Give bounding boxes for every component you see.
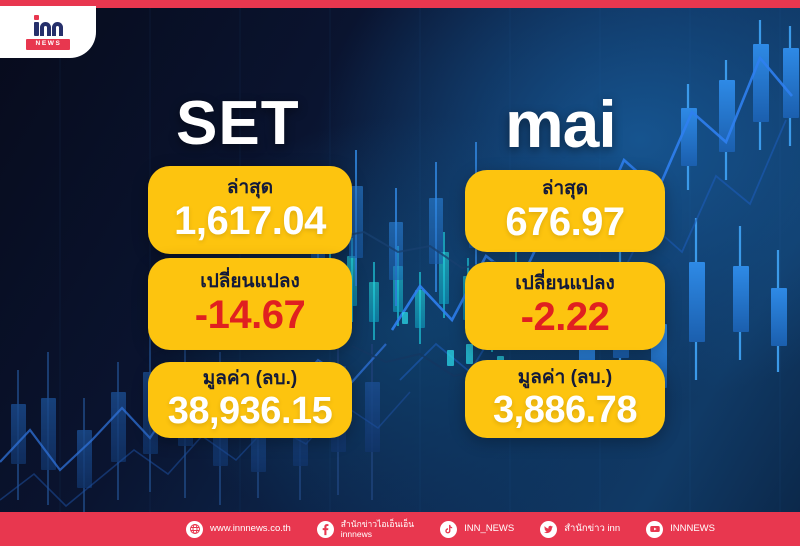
mai-latest-value: 676.97: [505, 201, 624, 243]
footer-facebook-label: สำนักข่าวไอเอ็นเอ็น innnews: [341, 519, 414, 539]
mai-change-card: เปลี่ยนแปลง -2.22: [465, 262, 665, 350]
set-turnover-value: 38,936.15: [168, 392, 333, 432]
footer-twitter[interactable]: สำนักข่าว inn: [540, 521, 620, 538]
footer-facebook-line2: innnews: [341, 529, 372, 539]
mai-change-value: -2.22: [521, 296, 610, 338]
youtube-icon: [646, 521, 663, 538]
mai-turnover-value: 3,886.78: [493, 391, 637, 431]
footer-facebook[interactable]: สำนักข่าวไอเอ็นเอ็น innnews: [317, 519, 414, 539]
twitter-icon: [540, 521, 557, 538]
graphic-stage: NEWS SET mai ล่าสุด 1,617.04 เปลี่ยนแปลง…: [0, 0, 800, 546]
footer-website-label: www.innnews.co.th: [210, 523, 291, 534]
set-turnover-label: มูลค่า (ลบ.): [203, 369, 297, 390]
footer-twitter-label: สำนักข่าว inn: [564, 523, 620, 534]
footer-youtube[interactable]: INNNEWS: [646, 521, 715, 538]
mai-turnover-label: มูลค่า (ลบ.): [518, 368, 612, 389]
mai-turnover-card: มูลค่า (ลบ.) 3,886.78: [465, 360, 665, 438]
logo-letter-n-1: [40, 22, 51, 36]
logo-letter-i: [34, 15, 39, 36]
set-latest-value: 1,617.04: [174, 200, 326, 242]
mai-latest-label: ล่าสุด: [542, 179, 588, 200]
footer-website[interactable]: www.innnews.co.th: [186, 521, 291, 538]
logo-wordmark-icon: [34, 15, 63, 36]
set-latest-card: ล่าสุด 1,617.04: [148, 166, 352, 254]
set-change-label: เปลี่ยนแปลง: [200, 272, 300, 293]
globe-icon: [186, 521, 203, 538]
tiktok-icon: [440, 521, 457, 538]
inn-news-logo[interactable]: NEWS: [0, 6, 96, 58]
facebook-icon: [317, 521, 334, 538]
social-footer-bar: www.innnews.co.th สำนักข่าวไอเอ็นเอ็น in…: [0, 512, 800, 546]
footer-youtube-label: INNNEWS: [670, 523, 715, 534]
footer-tiktok[interactable]: INN_NEWS: [440, 521, 514, 538]
set-turnover-card: มูลค่า (ลบ.) 38,936.15: [148, 362, 352, 438]
logo-news-badge: NEWS: [26, 39, 71, 50]
mai-latest-card: ล่าสุด 676.97: [465, 170, 665, 252]
set-change-value: -14.67: [195, 294, 305, 336]
set-panel-title: SET: [176, 88, 300, 159]
logo-i-stem-icon: [34, 22, 39, 36]
footer-tiktok-label: INN_NEWS: [464, 523, 514, 534]
logo-letter-n-2: [52, 22, 63, 36]
footer-facebook-line1: สำนักข่าวไอเอ็นเอ็น: [341, 519, 414, 529]
set-change-card: เปลี่ยนแปลง -14.67: [148, 258, 352, 350]
mai-panel-title: mai: [505, 86, 616, 162]
set-latest-label: ล่าสุด: [227, 178, 273, 199]
top-accent-bar: [0, 0, 800, 8]
background-candlestick-chart: [0, 0, 800, 546]
logo-i-dot-icon: [34, 15, 39, 20]
mai-change-label: เปลี่ยนแปลง: [515, 274, 615, 295]
